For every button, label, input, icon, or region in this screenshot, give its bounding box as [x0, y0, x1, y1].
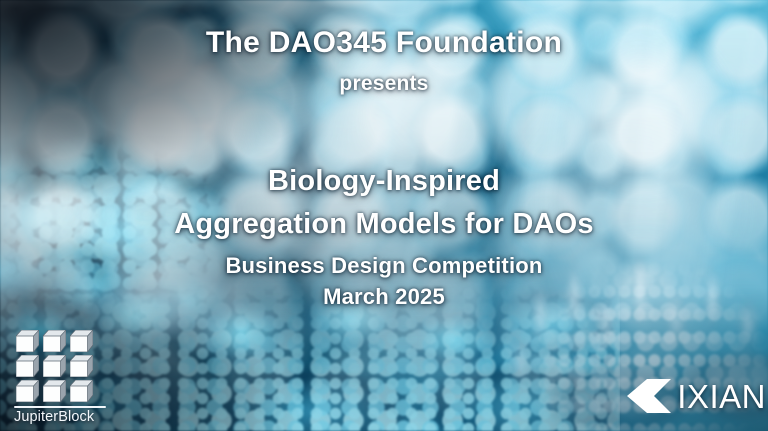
date-label: March 2025 — [0, 284, 768, 310]
cube-icon — [43, 355, 66, 377]
cube-icon — [43, 330, 66, 352]
cube-icon — [70, 330, 93, 352]
title-line-1: Biology-Inspired — [0, 165, 768, 198]
jupiterblock-logo: JupiterBlock — [12, 330, 116, 425]
title-line-2: Aggregation Models for DAOs — [0, 208, 768, 241]
cube-icon — [70, 380, 93, 402]
subtitle: Business Design Competition — [0, 253, 768, 279]
jupiterblock-divider — [14, 406, 106, 408]
cube-icon — [16, 355, 39, 377]
ixian-wordmark: IXIAN — [677, 380, 766, 413]
cube-icon — [16, 380, 39, 402]
cube-icon — [43, 380, 66, 402]
cube-icon — [16, 330, 39, 352]
ixian-logo: IXIAN — [627, 379, 766, 413]
cube-icon — [70, 355, 93, 377]
presents-label: presents — [0, 72, 768, 96]
left-chevron-icon — [627, 379, 671, 413]
organization-name: The DAO345 Foundation — [0, 26, 768, 60]
nine-cube-grid-icon — [16, 330, 116, 402]
title-slide: The DAO345 Foundation presents Biology-I… — [0, 0, 768, 431]
jupiterblock-wordmark: JupiterBlock — [12, 410, 116, 425]
